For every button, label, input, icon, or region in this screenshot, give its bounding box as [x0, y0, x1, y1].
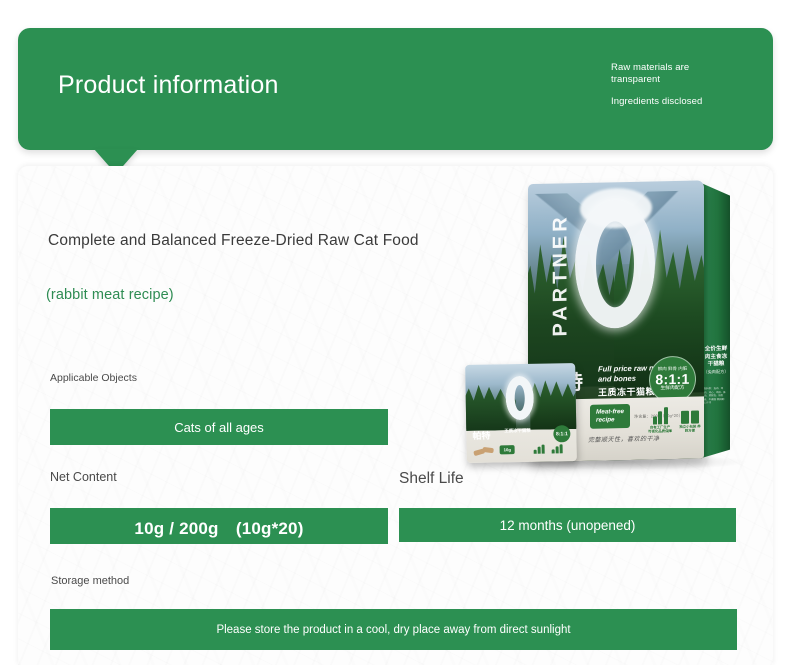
ratio-badge-bottom-text: 生鲜肉配方: [661, 387, 685, 392]
label-shelf-life: Shelf Life: [399, 470, 464, 488]
pouch-side-chinese-text: 全价生鲜肉主食冻干猫粮 （兔肉配方）: [703, 346, 729, 377]
ratio-badge-value: 8:1:1: [655, 372, 689, 387]
value-shelf-life: 12 months (unopened): [399, 508, 736, 542]
value-storage-method: Please store the product in a cool, dry …: [50, 609, 737, 650]
pouch-side-main: 全价生鲜肉主食冻干猫粮: [705, 346, 727, 368]
sachet-kibble-illustration: [474, 446, 496, 458]
label-net-content: Net Content: [50, 470, 117, 484]
header-note-raw-materials: Raw materials are transparent: [611, 62, 731, 86]
label-applicable-objects: Applicable Objects: [50, 372, 137, 384]
sachet-factory-icon: [533, 445, 546, 454]
label-storage-method: Storage method: [51, 575, 129, 587]
product-title: Complete and Balanced Freeze-Dried Raw C…: [48, 232, 419, 250]
sachet-brand-cn: 帕特: [472, 429, 490, 442]
factory-quality-caption: 自有工厂生产 可视化品质保障: [648, 425, 672, 434]
ratio-badge-top-text: 鲜肉 鲜骨 内脏: [658, 367, 688, 372]
factory-quality-icon: 自有工厂生产 可视化品质保障: [648, 405, 672, 430]
meat-free-recipe-tag: Meat-free recipe: [590, 404, 630, 429]
pouch-side-fineprint: 配料表：兔肉、鸡肉、鸡心、鸡肝、鱼油、蒙脱石、维生素、牛磺酸 保质期：12个月: [704, 387, 727, 406]
product-package-photo: 全价生鲜肉主食冻干猫粮 （兔肉配方） 配料表：兔肉、鸡肉、鸡心、鸡肝、鱼油、蒙脱…: [460, 178, 778, 470]
package-claim-cn: 王质冻干猫粮: [598, 384, 655, 398]
brand-wordmark-en: PARTNER: [550, 200, 573, 350]
product-information-page: Product information Raw materials are tr…: [0, 0, 790, 665]
sachet-forest-right-art: [529, 369, 577, 430]
header-banner: Product information Raw materials are tr…: [18, 28, 773, 150]
pouch-side-sub: （兔肉配方）: [703, 369, 728, 375]
page-title: Product information: [58, 71, 279, 100]
small-sachet: 帕特 王质冻干猫粮 8:1:1 10g: [465, 363, 577, 463]
sachet-claim-cn: 王质冻干猫粮: [504, 428, 530, 434]
sachet-bar-glyph-b: [551, 444, 564, 453]
package-slogan-cn: 完整顺天性，喜欢的干净: [588, 433, 660, 443]
product-subtitle: (rabbit meat recipe): [46, 287, 174, 303]
sachet-serve-icon: [551, 444, 564, 453]
value-net-content: 10g / 200g (10g*20): [50, 508, 388, 544]
sachet-meat-free-tag: 10g: [500, 445, 515, 454]
sachet-cloud-ring-art: [505, 376, 534, 420]
header-notes: Raw materials are transparent Ingredient…: [611, 62, 731, 108]
sachet-ratio-badge: 8:1:1: [553, 425, 570, 442]
value-applicable-objects: Cats of all ages: [50, 409, 388, 445]
single-serve-sachet-icon: 独立小包装 养鲜方便: [678, 404, 702, 429]
bar-chart-glyph: [648, 405, 672, 425]
single-serve-sachet-caption: 独立小包装 养鲜方便: [678, 424, 702, 433]
sachet-bar-glyph-a: [533, 445, 546, 454]
pouch-side-gusset: 全价生鲜肉主食冻干猫粮 （兔肉配方） 配料表：兔肉、鸡肉、鸡心、鸡肝、鱼油、蒙脱…: [700, 182, 730, 459]
header-note-ingredients: Ingredients disclosed: [611, 96, 731, 108]
sachet-pair-glyph: [678, 404, 702, 424]
